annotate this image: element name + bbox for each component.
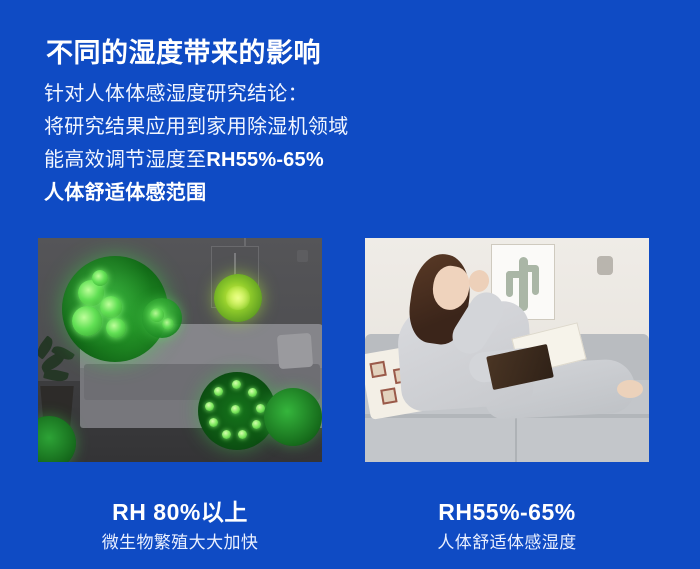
caption-comfort-humidity: RH55%-65% 人体舒适体感湿度 [365,498,649,554]
page-title: 不同的湿度带来的影响 [46,36,321,70]
copy-line-3: 能高效调节湿度至RH55%-65% [44,144,494,177]
germ-cell [209,418,218,427]
germ-cell [100,296,122,318]
germ-cell [222,430,231,439]
bright-room-scene [365,238,649,462]
germ-cell [106,318,126,338]
copy-line-2: 将研究结果应用到家用除湿机领域 [44,111,494,144]
wall-sensor-icon [597,256,613,275]
germ-cell [92,270,108,286]
sofa-seam [515,414,517,462]
body-copy: 针对人体体感湿度研究结论： 将研究结果应用到家用除湿机领域 能高效调节湿度至RH… [44,78,494,210]
copy-line-4: 人体舒适体感范围 [44,177,494,210]
germ-cell [205,402,214,411]
copy-line-1: 针对人体体感湿度研究结论： [44,78,494,111]
germ-cell [214,387,223,396]
copy-line-3-highlight: RH55%-65% [206,149,323,171]
pillow-pattern [369,361,386,378]
dark-room-scene [38,238,322,462]
pillow-pattern [380,387,397,404]
germ-sphere-edge-right-icon [264,388,322,446]
germ-cell [72,306,102,336]
caption-title: RH 80%以上 [38,498,322,526]
cactus-arm [524,265,538,272]
germ-cell [248,388,257,397]
humidity-infographic: 不同的湿度带来的影响 针对人体体感湿度研究结论： 将研究结果应用到家用除湿机领域… [0,0,700,569]
caption-title: RH55%-65% [365,498,649,526]
germ-cell [238,430,247,439]
germ-sphere-virus-icon [214,274,262,322]
cushion [277,333,313,369]
germ-sphere-medium-icon [142,298,182,338]
caption-high-humidity: RH 80%以上 微生物繁殖大大加快 [38,498,322,554]
copy-line-3-normal: 能高效调节湿度至 [44,149,206,171]
germ-cell [162,318,174,330]
germ-cell [252,420,261,429]
photo-comfort-humidity [365,238,649,462]
germ-cell [232,380,241,389]
caption-subtitle: 人体舒适体感湿度 [365,532,649,554]
woman-foot [617,380,643,398]
germ-cell [231,405,240,414]
woman-hand [467,268,492,294]
caption-subtitle: 微生物繁殖大大加快 [38,532,322,554]
photo-panels [38,238,662,462]
cactus-arm [506,271,524,278]
wall-switch-icon [297,250,308,262]
photo-high-humidity [38,238,322,462]
